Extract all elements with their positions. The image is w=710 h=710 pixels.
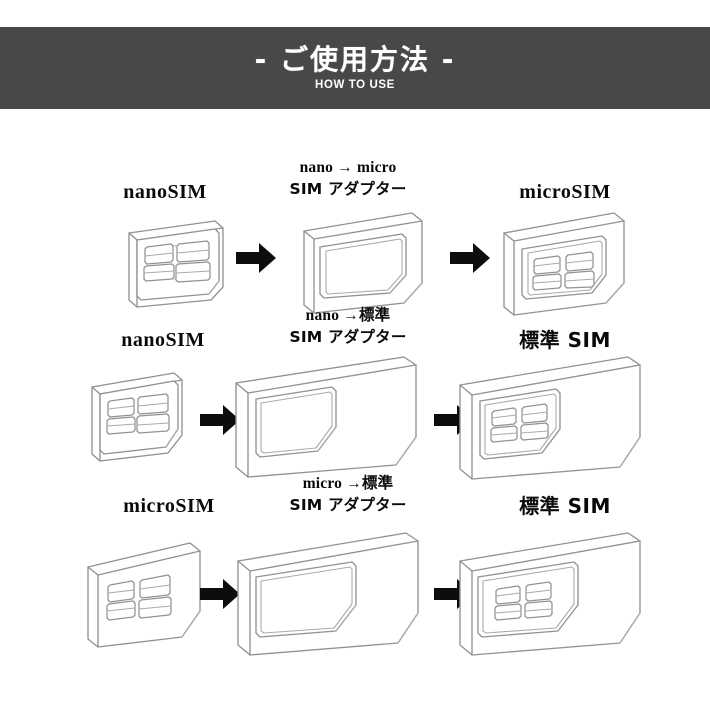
- standard-sim-illustration-row2: [452, 355, 652, 483]
- nano-sim-illustration-row2: [78, 365, 198, 465]
- row3-adapter-label-line1: micro →標準: [258, 475, 438, 493]
- diagram-row-nano-to-micro: nanoSIM nano → micro SIM アダプター microSIM: [0, 129, 710, 309]
- diagram-row-micro-to-standard: microSIM micro →標準 SIM アダプター 標準 SIM: [0, 477, 710, 677]
- instruction-diagram: nanoSIM nano → micro SIM アダプター microSIM: [0, 109, 710, 710]
- how-to-use-page: - ご使用方法 - HOW TO USE nanoSIM nano → micr…: [0, 0, 710, 710]
- page-title: - ご使用方法 -: [255, 45, 456, 74]
- row2-adapter-label-line1: nano →標準: [258, 307, 438, 325]
- micro-to-standard-adapter-illustration: [230, 529, 430, 659]
- row1-adapter-label-line2: SIM アダプター: [258, 180, 438, 198]
- row2-adapter-label-line2: SIM アダプター: [258, 328, 438, 346]
- page-subtitle: HOW TO USE: [315, 79, 395, 91]
- row1-source-label: nanoSIM: [90, 181, 240, 203]
- diagram-row-nano-to-standard: nanoSIM nano →標準 SIM アダプター 標準 SIM: [0, 297, 710, 487]
- row2-result-label: 標準 SIM: [480, 329, 650, 351]
- row1-right-arrow-icon: [234, 241, 278, 275]
- standard-sim-illustration-row3: [452, 529, 652, 659]
- row3-result-label: 標準 SIM: [480, 495, 650, 517]
- nano-to-standard-adapter-illustration: [228, 355, 428, 483]
- row1-right-arrow-icon-2: [448, 241, 492, 275]
- row1-adapter-label-line1: nano → micro: [258, 159, 438, 177]
- row3-source-label: microSIM: [84, 495, 254, 517]
- micro-sim-illustration-row3: [76, 535, 216, 651]
- row3-adapter-label-line2: SIM アダプター: [258, 496, 438, 514]
- header-band: - ご使用方法 - HOW TO USE: [0, 27, 710, 109]
- row1-result-label: microSIM: [480, 181, 650, 203]
- row2-source-label: nanoSIM: [88, 329, 238, 351]
